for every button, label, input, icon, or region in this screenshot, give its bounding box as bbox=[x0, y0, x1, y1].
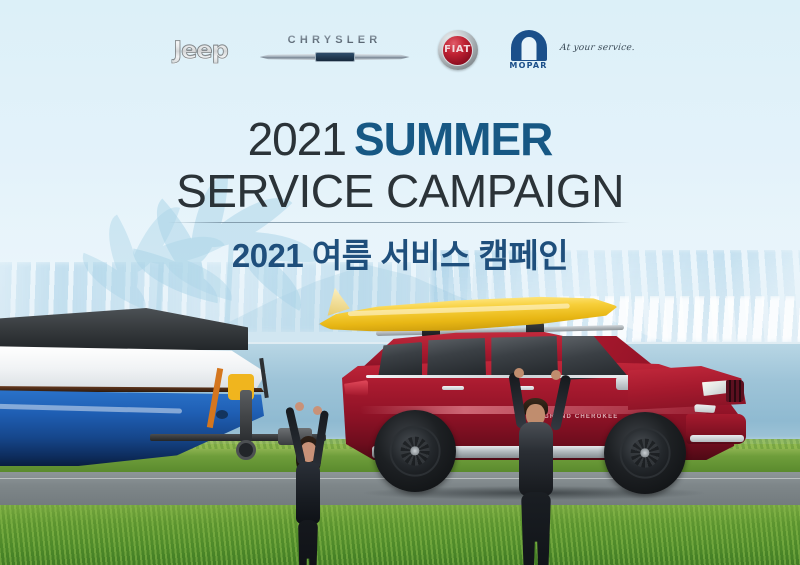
trailer-jack bbox=[240, 390, 252, 442]
surfboard-fin bbox=[320, 286, 351, 317]
headline-season: SUMMER bbox=[354, 113, 552, 165]
legs bbox=[298, 520, 318, 565]
front-grille bbox=[726, 380, 744, 402]
foreground-grass bbox=[0, 505, 800, 565]
mopar-wordmark: MOPAR bbox=[506, 62, 552, 70]
right-hand bbox=[551, 370, 561, 380]
wheel-rim bbox=[620, 428, 671, 479]
chrysler-wordmark: CHRYSLER bbox=[260, 35, 410, 46]
jeep-logo: Jeep bbox=[166, 28, 236, 72]
photo-scene: GRAND CHEROKEE bbox=[0, 290, 800, 565]
headline-line-1: 2021SUMMER bbox=[0, 112, 800, 166]
mopar-omega-icon bbox=[511, 30, 547, 60]
mopar-logo: MOPAR At your service. bbox=[506, 28, 635, 72]
woman-in-wetsuit bbox=[282, 436, 342, 565]
rear-wheel bbox=[374, 410, 456, 492]
front-door-window bbox=[490, 336, 558, 376]
mopar-mark: MOPAR bbox=[506, 30, 552, 70]
front-bumper bbox=[686, 414, 746, 444]
left-hand bbox=[295, 402, 304, 411]
torso bbox=[519, 422, 553, 496]
rear-door-handle bbox=[442, 386, 464, 390]
mopar-tagline: At your service. bbox=[559, 43, 635, 53]
headline-divider bbox=[168, 222, 630, 223]
subtitle-korean: 2021 여름 서비스 캠페인 bbox=[0, 234, 800, 278]
boat-cover bbox=[0, 308, 248, 350]
wing-center-hub bbox=[315, 52, 355, 62]
man-in-wetsuit bbox=[506, 398, 570, 565]
legs bbox=[521, 492, 551, 565]
left-hand bbox=[514, 368, 524, 378]
fiat-badge-inner: FIAT bbox=[442, 35, 473, 66]
front-wheel bbox=[604, 412, 686, 494]
right-hand bbox=[313, 406, 322, 415]
rear-door-window bbox=[426, 338, 486, 376]
wing-left bbox=[260, 54, 322, 61]
wing-right bbox=[348, 54, 410, 61]
headline-block: 2021SUMMER SERVICE CAMPAIGN bbox=[0, 112, 800, 218]
fiat-wordmark: FIAT bbox=[444, 45, 471, 55]
chrysler-wing-icon bbox=[260, 49, 410, 65]
fiat-logo: FIAT bbox=[436, 28, 480, 72]
headline-line-2: SERVICE CAMPAIGN bbox=[0, 164, 800, 218]
boat-deck bbox=[0, 346, 266, 392]
headline-year: 2021 bbox=[248, 113, 346, 165]
wheel-rim bbox=[390, 426, 441, 477]
chrysler-logo: CHRYSLER bbox=[260, 28, 410, 72]
chrome-beltline-trim bbox=[366, 375, 636, 378]
trailer-jack-wheel bbox=[236, 440, 256, 460]
torso bbox=[296, 462, 320, 524]
jeep-wordmark: Jeep bbox=[173, 38, 228, 62]
brand-logo-row: Jeep CHRYSLER FIAT MOPAR bbox=[0, 28, 800, 72]
fiat-badge-icon: FIAT bbox=[438, 30, 478, 70]
summer-service-campaign-poster: Jeep CHRYSLER FIAT MOPAR bbox=[0, 0, 800, 565]
